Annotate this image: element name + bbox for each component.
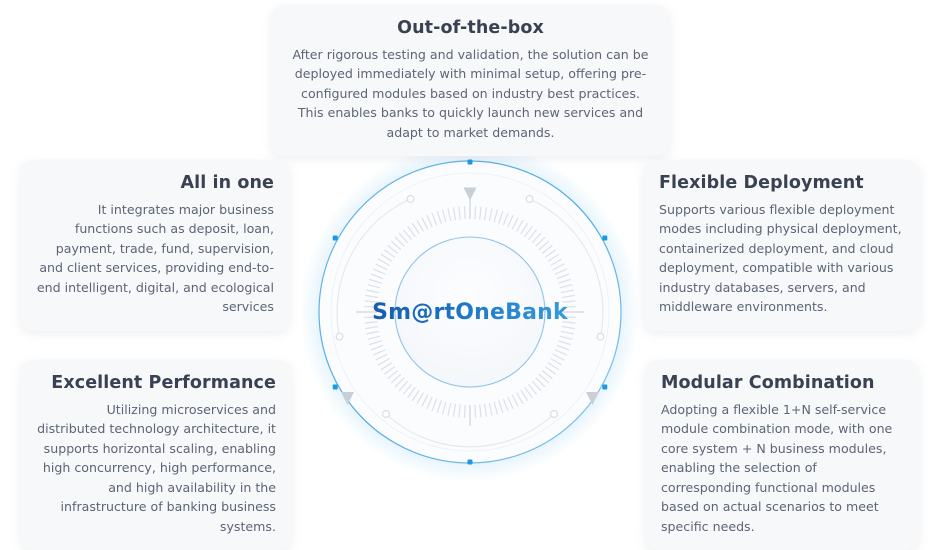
card-body: It integrates major business functions s… [36,200,274,317]
arc-endpoint-right [597,333,604,340]
tick-minor [563,317,576,318]
card-body: Utilizing microservices and distributed … [36,400,276,537]
card-title: Modular Combination [661,372,903,396]
arc-endpoint-bottom-right [551,411,558,418]
tick-minor [475,405,476,418]
outer-ring-dot-1 [468,160,473,165]
feature-card-out-of-the-box[interactable]: Out-of-the-box After rigorous testing an… [271,5,670,156]
arc-endpoint-left [336,333,343,340]
outer-ring-dot-2 [602,236,607,241]
arc-endpoint-top-right [526,196,533,203]
feature-card-flexible-deployment[interactable]: Flexible Deployment Supports various fle… [643,160,920,331]
inner-circle-fill [395,237,545,387]
feature-card-excellent-performance[interactable]: Excellent Performance Utilizing microser… [20,360,292,550]
card-title: Out-of-the-box [287,17,654,41]
outer-ring-dot-5 [333,385,338,390]
center-circular-graphic: Sm@rtOneBank [298,140,642,484]
arc-endpoint-top-left [407,196,414,203]
tick-minor [475,206,476,219]
outer-ring-dot-3 [602,385,607,390]
outer-ring-dot-6 [333,236,338,241]
tick-minor [364,317,377,318]
concentric-rings-svg [298,140,642,484]
feature-card-all-in-one[interactable]: All in one It integrates major business … [20,160,290,331]
card-title: All in one [36,172,274,196]
tick-minor [364,306,377,307]
feature-card-modular-combination[interactable]: Modular Combination Adopting a flexible … [645,360,919,550]
tick-minor [563,306,576,307]
tick-minor [464,206,465,219]
card-title: Excellent Performance [36,372,276,396]
tick-minor [464,405,465,418]
arc-endpoint-bottom-left [383,411,390,418]
outer-ring-dot-4 [468,460,473,465]
card-title: Flexible Deployment [659,172,904,196]
card-body: After rigorous testing and validation, t… [287,45,654,143]
card-body: Supports various flexible deployment mod… [659,200,904,317]
card-body: Adopting a flexible 1+N self-service mod… [661,400,903,537]
